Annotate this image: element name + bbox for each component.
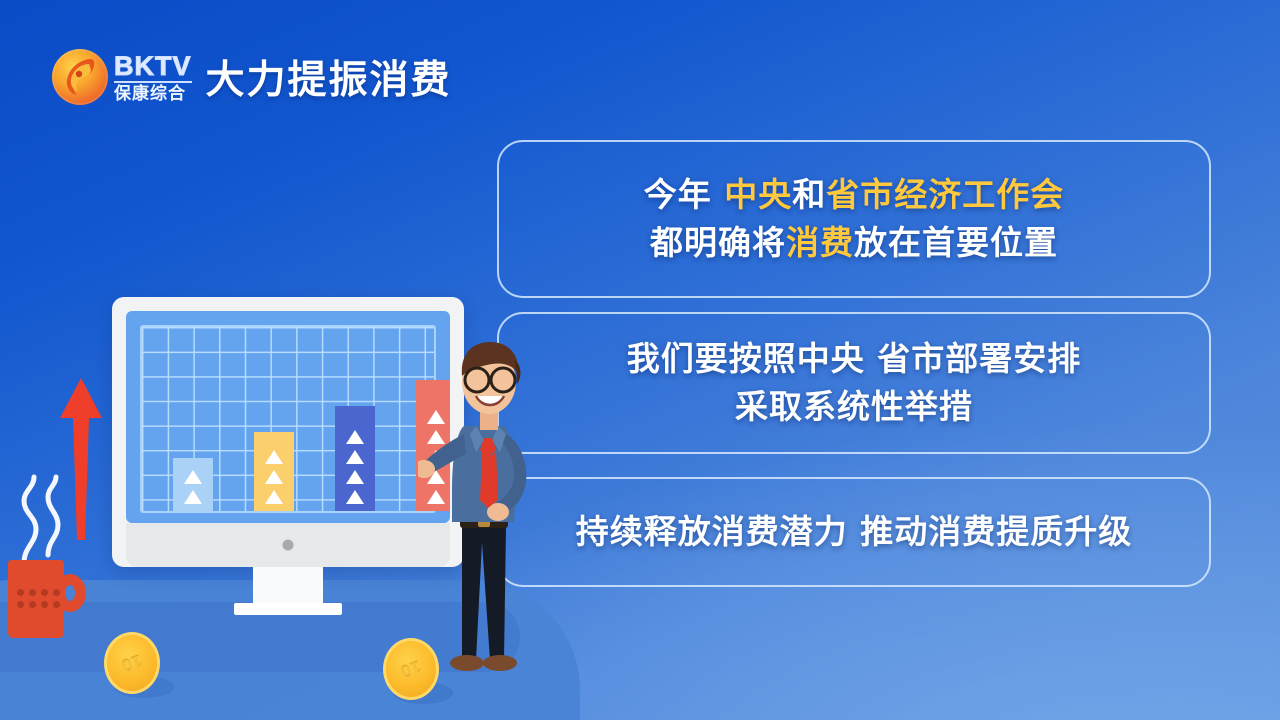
phoenix-circle-logo-icon bbox=[52, 49, 108, 105]
triangle-up-icon bbox=[346, 430, 364, 444]
coin-face: 10 bbox=[104, 632, 160, 694]
card-3-line-1: 持续释放消费潜力 推动消费提质升级 bbox=[576, 508, 1133, 556]
text-run: 今年 bbox=[644, 175, 725, 214]
desktop-monitor bbox=[112, 297, 464, 615]
text-run: 消费 bbox=[786, 223, 854, 262]
message-card-2: 我们要按照中央 省市部署安排采取系统性举措 bbox=[497, 312, 1211, 454]
channel-header: BKTV 保康综合 大力提振消费 bbox=[52, 46, 452, 108]
businessman-presenter-icon bbox=[418, 330, 568, 686]
monitor-chin bbox=[126, 523, 450, 567]
text-run: 中央 bbox=[724, 175, 792, 214]
phoenix-glyph-icon bbox=[52, 49, 108, 105]
monitor-power-indicator bbox=[283, 540, 294, 551]
coin-value: 10 bbox=[119, 650, 145, 677]
bar-chart bbox=[140, 325, 436, 513]
triangle-up-icon bbox=[184, 470, 202, 484]
text-run: 放在首要位置 bbox=[854, 223, 1058, 262]
triangle-up-icon bbox=[265, 450, 283, 464]
gold-coin-left: 10 bbox=[104, 632, 160, 694]
slide-canvas: BKTV 保康综合 大力提振消费 今年 中央和省市经济工作会都明确将消费放在首要… bbox=[0, 0, 1280, 720]
card-2-line-1: 我们要按照中央 省市部署安排 bbox=[627, 335, 1082, 383]
triangle-up-icon bbox=[346, 490, 364, 504]
chart-bars-layer bbox=[140, 325, 436, 511]
steam-icon bbox=[10, 455, 66, 565]
triangle-up-icon bbox=[346, 450, 364, 464]
message-card-1: 今年 中央和省市经济工作会都明确将消费放在首要位置 bbox=[497, 140, 1211, 298]
logo-channel-name: 保康综合 bbox=[114, 85, 192, 102]
text-run: 采取系统性举措 bbox=[735, 387, 973, 426]
text-run: 我们要按照中央 省市部署安排 bbox=[627, 339, 1082, 378]
text-run: 和 bbox=[792, 175, 826, 214]
channel-logo: BKTV 保康综合 bbox=[52, 49, 192, 105]
text-run: 都明确将 bbox=[650, 223, 786, 262]
logo-wordmark: BKTV 保康综合 bbox=[114, 53, 192, 102]
triangle-up-icon bbox=[184, 490, 202, 504]
text-run: 持续释放消费潜力 推动消费提质升级 bbox=[576, 512, 1133, 551]
triangle-up-icon bbox=[265, 470, 283, 484]
card-1-line-2: 都明确将消费放在首要位置 bbox=[650, 219, 1058, 267]
monitor-bezel bbox=[112, 297, 464, 567]
card-1-line-1: 今年 中央和省市经济工作会 bbox=[644, 171, 1065, 219]
monitor-screen bbox=[126, 311, 450, 523]
logo-callsign: BKTV bbox=[114, 53, 192, 80]
chart-bar-2 bbox=[254, 432, 294, 511]
triangle-up-icon bbox=[265, 490, 283, 504]
chart-bar-3 bbox=[335, 406, 375, 511]
monitor-stand bbox=[253, 567, 323, 603]
page-title: 大力提振消费 bbox=[206, 49, 452, 105]
triangle-up-icon bbox=[346, 470, 364, 484]
monitor-base bbox=[234, 603, 342, 615]
coffee-mug-icon bbox=[8, 560, 86, 638]
text-run: 省市经济工作会 bbox=[826, 175, 1064, 214]
chart-bar-1 bbox=[173, 458, 213, 511]
mug-pattern bbox=[17, 589, 55, 608]
card-2-line-2: 采取系统性举措 bbox=[735, 383, 973, 431]
message-card-3: 持续释放消费潜力 推动消费提质升级 bbox=[497, 477, 1211, 587]
logo-divider bbox=[114, 81, 192, 83]
